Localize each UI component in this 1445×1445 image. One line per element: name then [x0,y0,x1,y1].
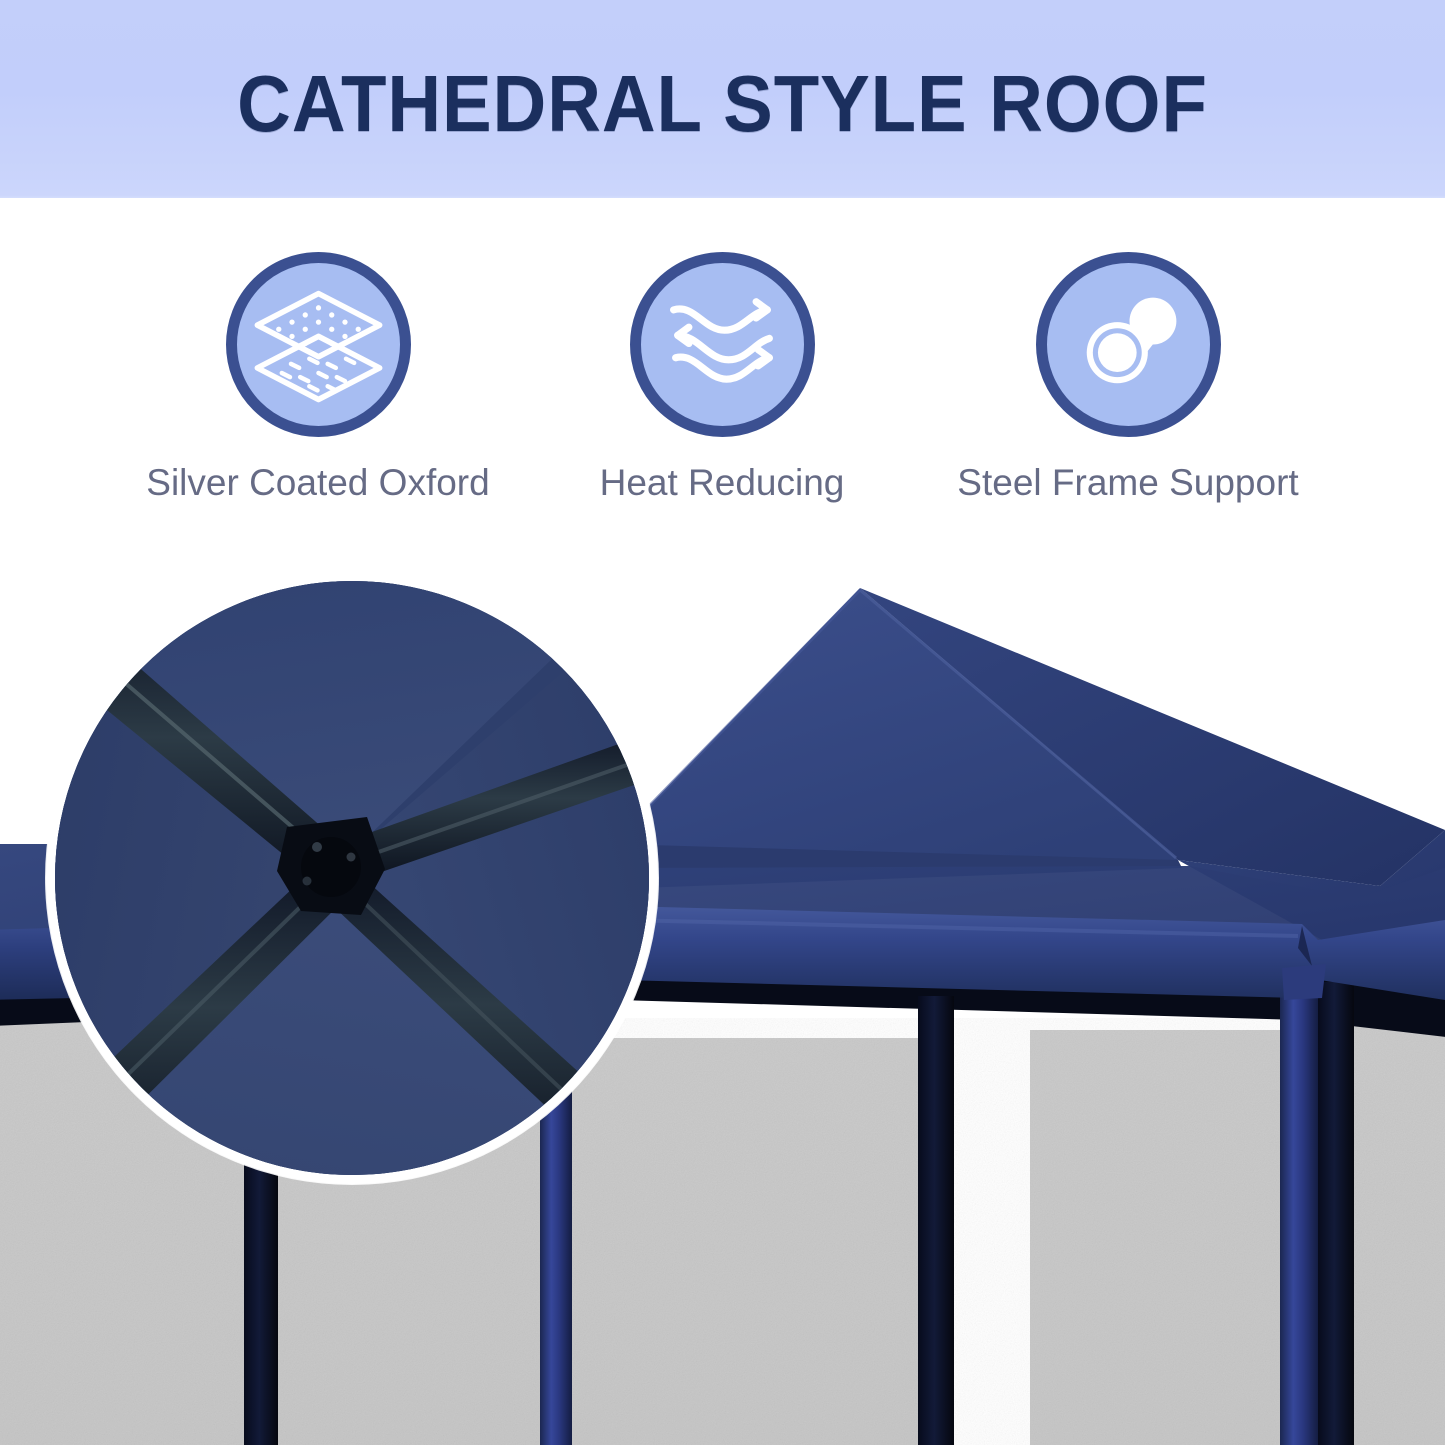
corner-post-cap [1282,964,1326,1000]
layered-fabric-icon [237,263,400,426]
feature-row: Silver Coated Oxford [0,198,1445,568]
product-photo [0,568,1445,1445]
feature-item-steel-frame-support: Steel Frame Support [938,252,1318,503]
feature-label: Steel Frame Support [938,463,1318,503]
feature-icon-badge [630,252,815,437]
steel-tube-icon [1047,263,1210,426]
airflow-waves-icon [641,263,804,426]
canopy-underside-detail-inset [46,572,658,1184]
feature-icon-badge [226,252,411,437]
feature-item-heat-reducing: Heat Reducing [532,252,912,503]
feature-label: Silver Coated Oxford [128,463,508,503]
header-banner: CATHEDRAL STYLE ROOF [0,0,1445,198]
feature-icon-badge [1036,252,1221,437]
product-infographic: CATHEDRAL STYLE ROOF [0,0,1445,1445]
feature-label: Heat Reducing [532,463,912,503]
canopy-underside-detail-illustration [55,581,649,1175]
feature-item-silver-coated-oxford: Silver Coated Oxford [128,252,508,503]
page-title: CATHEDRAL STYLE ROOF [51,62,1395,146]
